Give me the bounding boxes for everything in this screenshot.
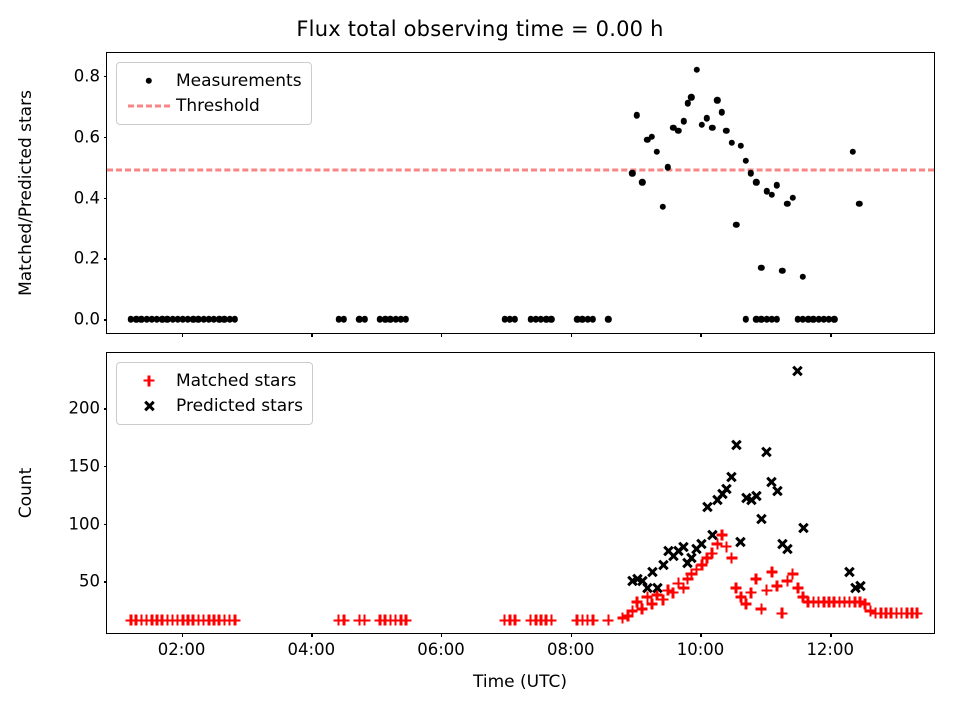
x-tick <box>830 333 831 337</box>
data-point-o <box>704 115 710 121</box>
data-point-o <box>748 170 754 176</box>
data-point-+ <box>546 615 557 626</box>
data-point-x <box>854 580 866 592</box>
dashed-line-icon <box>126 97 172 115</box>
data-point-o <box>779 267 785 273</box>
x-tick-label: 10:00 <box>677 640 725 659</box>
cross-marker-icon <box>126 397 172 415</box>
data-point-o <box>753 179 759 185</box>
data-point-o <box>758 264 764 270</box>
top-panel-legend[interactable]: Measurements Threshold <box>116 62 312 125</box>
data-point-+ <box>229 615 240 626</box>
legend-label-threshold: Threshold <box>176 96 260 116</box>
legend-label-matched-stars: Matched stars <box>176 371 296 391</box>
x-tick <box>830 633 831 637</box>
x-tick <box>571 633 572 637</box>
data-point-+ <box>777 608 788 619</box>
data-point-o <box>361 316 367 322</box>
y-tick-label: 0.4 <box>74 188 100 207</box>
y-tick-label: 0.6 <box>74 127 100 146</box>
data-point-o <box>850 149 856 155</box>
x-axis-label: Time (UTC) <box>473 672 567 692</box>
data-point-o <box>728 140 734 146</box>
legend-entry-measurements: Measurements <box>126 68 302 93</box>
data-point-o <box>774 182 780 188</box>
data-point-o <box>784 200 790 206</box>
data-point-+ <box>756 603 767 614</box>
data-point-o <box>548 316 554 322</box>
data-point-x <box>735 536 747 548</box>
data-point-o <box>800 273 806 279</box>
x-tick-label: 04:00 <box>288 640 336 659</box>
y-tick-label: 0.2 <box>74 249 100 268</box>
data-point-+ <box>772 580 783 591</box>
data-point-o <box>629 170 635 176</box>
legend-label-measurements: Measurements <box>176 71 302 91</box>
data-point-o <box>774 316 780 322</box>
data-point-x <box>706 529 718 541</box>
legend-entry-threshold: Threshold <box>126 93 302 118</box>
data-point-o <box>634 112 640 118</box>
data-point-x <box>720 483 732 495</box>
y-tick <box>104 258 108 259</box>
top-panel-axes: Measurements Threshold 0.00.20.40.60.8 <box>106 52 935 334</box>
y-tick-label: 150 <box>69 456 101 475</box>
data-point-o <box>232 316 238 322</box>
x-tick <box>441 633 442 637</box>
data-point-o <box>688 94 694 100</box>
y-tick <box>104 137 108 138</box>
y-tick-label: 200 <box>69 399 101 418</box>
data-point-o <box>789 194 795 200</box>
data-point-+ <box>751 573 762 584</box>
data-point-+ <box>587 615 598 626</box>
legend-entry-predicted-stars: Predicted stars <box>126 393 303 418</box>
data-point-o <box>403 316 409 322</box>
y-tick <box>104 319 108 320</box>
data-point-o <box>605 316 611 322</box>
bottom-panel-legend[interactable]: Matched stars Predicted stars <box>116 362 313 425</box>
y-tick-label: 0.8 <box>74 66 100 85</box>
x-tick <box>700 333 701 337</box>
x-tick <box>311 333 312 337</box>
data-point-x <box>755 513 767 525</box>
data-point-o <box>743 158 749 164</box>
data-point-x <box>844 566 856 578</box>
data-point-+ <box>740 599 751 610</box>
data-point-+ <box>359 615 370 626</box>
data-point-o <box>680 118 686 124</box>
data-point-o <box>341 316 347 322</box>
data-point-o <box>723 127 729 133</box>
figure-title: Flux total observing time = 0.00 h <box>0 17 960 41</box>
x-tick-label: 02:00 <box>158 640 206 659</box>
data-point-o <box>684 100 690 106</box>
data-point-+ <box>726 553 737 564</box>
y-tick-label: 100 <box>69 514 101 533</box>
legend-entry-matched-stars: Matched stars <box>126 368 303 393</box>
threshold-line <box>107 169 934 172</box>
data-point-o <box>660 203 666 209</box>
x-tick-label: 08:00 <box>547 640 595 659</box>
data-point-x <box>730 439 742 451</box>
bottom-panel-y-axis-label: Count <box>16 468 36 519</box>
data-point-o <box>590 316 596 322</box>
x-tick-label: 12:00 <box>806 640 854 659</box>
y-tick-label: 50 <box>79 572 100 591</box>
plus-marker-icon <box>126 372 172 390</box>
data-point-x <box>792 365 804 377</box>
data-point-o <box>733 222 739 228</box>
data-point-o <box>769 191 775 197</box>
data-point-x <box>651 582 663 594</box>
data-point-+ <box>766 566 777 577</box>
bottom-panel-axes: Matched stars Predicted stars 5010015020… <box>106 352 935 634</box>
data-point-x <box>797 522 809 534</box>
data-point-o <box>699 121 705 127</box>
x-tick <box>182 333 183 337</box>
data-point-+ <box>603 615 614 626</box>
data-point-x <box>771 485 783 497</box>
data-point-+ <box>721 541 732 552</box>
data-point-o <box>856 200 862 206</box>
x-tick <box>441 333 442 337</box>
data-point-o <box>719 109 725 115</box>
data-point-o <box>831 316 837 322</box>
x-tick-label: 06:00 <box>417 640 465 659</box>
data-point-+ <box>761 585 772 596</box>
data-point-x <box>726 471 738 483</box>
x-tick <box>571 333 572 337</box>
dot-marker-icon <box>126 72 172 90</box>
y-tick-label: 0.0 <box>74 310 100 329</box>
data-point-+ <box>912 608 923 619</box>
data-point-o <box>512 316 518 322</box>
data-point-+ <box>787 569 798 580</box>
figure-canvas: Flux total observing time = 0.00 h Measu… <box>0 0 960 720</box>
data-point-o <box>693 67 699 73</box>
data-point-+ <box>746 587 757 598</box>
y-tick <box>104 581 108 582</box>
data-point-o <box>714 97 720 103</box>
y-tick <box>104 408 108 409</box>
x-tick <box>311 633 312 637</box>
y-tick <box>104 198 108 199</box>
x-tick <box>700 633 701 637</box>
data-point-o <box>709 124 715 130</box>
y-tick <box>104 524 108 525</box>
data-point-+ <box>338 615 349 626</box>
x-tick <box>182 633 183 637</box>
data-point-o <box>639 179 645 185</box>
legend-label-predicted-stars: Predicted stars <box>176 396 303 416</box>
data-point-+ <box>509 615 520 626</box>
top-panel-y-axis-label: Matched/Predicted stars <box>16 90 36 296</box>
data-point-o <box>743 316 749 322</box>
data-point-o <box>738 143 744 149</box>
y-tick <box>104 76 108 77</box>
data-point-x <box>750 490 762 502</box>
y-tick <box>104 466 108 467</box>
data-point-o <box>675 127 681 133</box>
data-point-o <box>654 149 660 155</box>
data-point-x <box>781 543 793 555</box>
data-point-x <box>761 446 773 458</box>
data-point-x <box>678 541 690 553</box>
data-point-+ <box>401 615 412 626</box>
data-point-o <box>649 133 655 139</box>
